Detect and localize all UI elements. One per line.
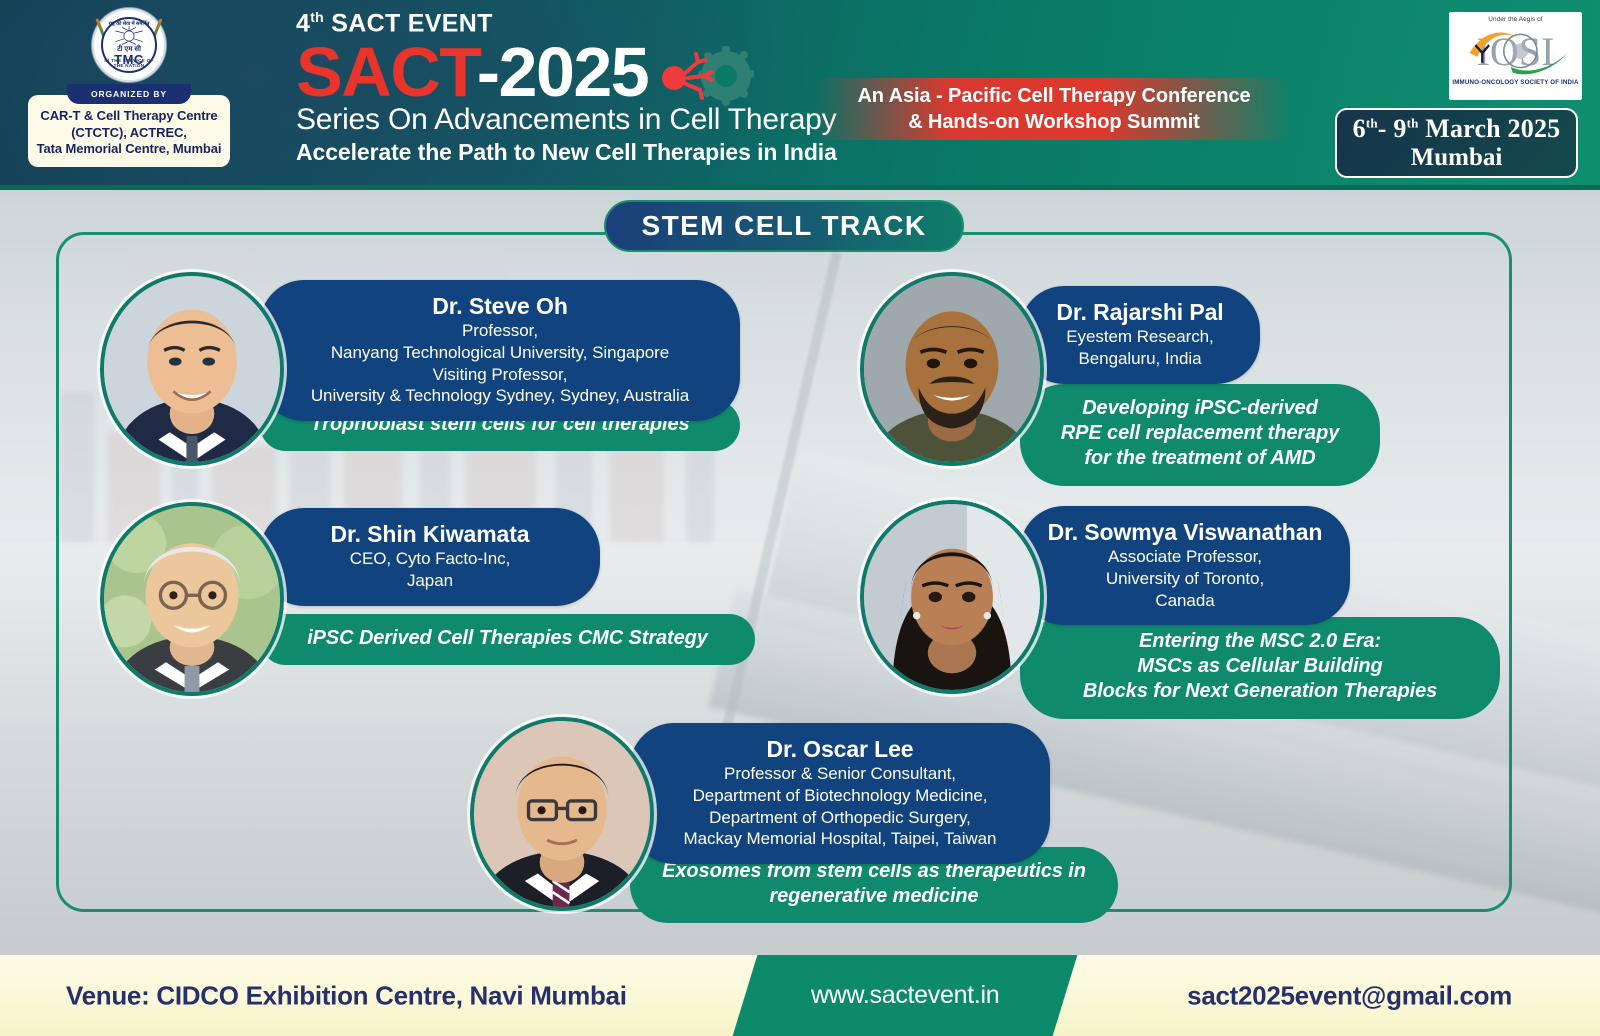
iosi-aegis-text: Under the Aegis of — [1452, 16, 1579, 23]
poster-footer: Venue: CIDCO Exhibition Centre, Navi Mum… — [0, 955, 1600, 1036]
date-month-year: March 2025 — [1425, 114, 1560, 143]
banner-line-2: & Hands-on Workshop Summit — [908, 109, 1199, 135]
speaker-affiliation: Associate Professor, University of Toron… — [1046, 546, 1324, 611]
event-date-line: 6th- 9th March 2025 — [1353, 115, 1561, 143]
brand-title-red: SACT — [296, 33, 477, 111]
date-day-end-ordinal: th — [1407, 116, 1419, 131]
event-city: Mumbai — [1411, 144, 1503, 171]
date-day-end: - 9 — [1378, 114, 1407, 143]
tmc-logo-icon: राष्ट्र की सेवा में समर्पित टी एम सी TMC… — [92, 8, 166, 82]
speaker-topic: iPSC Derived Cell Therapies CMC Strategy — [307, 627, 708, 649]
tmc-arc-top-text: राष्ट्र की सेवा में समर्पित — [103, 21, 155, 27]
speaker-name-box: Dr. Sowmya Viswanathan Associate Profess… — [1020, 506, 1350, 625]
speaker-affiliation: CEO, Cyto Facto-Inc, Japan — [286, 548, 574, 592]
brand-title-white: -2025 — [477, 33, 649, 111]
event-number-ordinal: th — [310, 9, 324, 25]
speaker-card[interactable]: Dr. Sowmya Viswanathan Associate Profess… — [860, 500, 1500, 705]
poster-header: राष्ट्र की सेवा में समर्पित टी एम सी TMC… — [0, 0, 1600, 190]
iosi-name-text: IMMUNO-ONCOLOGY SOCIETY OF INDIA — [1452, 79, 1579, 86]
iosi-logo-icon: Under the Aegis of IOSI IMMUNO-ONCOLOGY … — [1449, 12, 1582, 100]
iosi-artwork: IOSI — [1452, 23, 1579, 79]
speaker-name-box: Dr. Oscar Lee Professor & Senior Consult… — [630, 723, 1050, 864]
track-title-text: STEM CELL TRACK — [642, 210, 927, 242]
speaker-name: Dr. Rajarshi Pal — [1046, 298, 1234, 326]
tmc-arc-bottom-text: IN THE SERVICE OF THE NATION — [103, 58, 155, 68]
track-title-badge: STEM CELL TRACK — [604, 200, 964, 252]
organizer-line-1: CAR-T & Cell Therapy Centre — [34, 108, 224, 125]
contact-email[interactable]: sact2025event@gmail.com — [1187, 980, 1512, 1011]
speaker-name-box: Dr. Shin Kiwamata CEO, Cyto Facto-Inc, J… — [260, 508, 600, 606]
avatar — [100, 502, 284, 696]
speaker-card[interactable]: Dr. Rajarshi Pal Eyestem Research, Benga… — [860, 272, 1380, 487]
speaker-name: Dr. Shin Kiwamata — [286, 520, 574, 548]
poster-body: STEM CELL TRACK — [0, 190, 1600, 955]
speaker-topic-box: iPSC Derived Cell Therapies CMC Strategy — [260, 614, 755, 665]
speaker-topic-box: Entering the MSC 2.0 Era: MSCs as Cellul… — [1020, 617, 1500, 719]
speaker-name: Dr. Oscar Lee — [656, 735, 1024, 763]
avatar — [100, 272, 284, 466]
brand-title: SACT-2025 — [296, 38, 648, 107]
speaker-name: Dr. Sowmya Viswanathan — [1046, 518, 1324, 546]
website-url: www.sactevent.in — [811, 981, 999, 1010]
iosi-flag-swirl-icon — [1452, 23, 1579, 79]
speaker-topic: Entering the MSC 2.0 Era: MSCs as Cellul… — [1083, 630, 1437, 702]
event-date-badge: 6th- 9th March 2025 Mumbai — [1335, 108, 1578, 178]
organized-by-label: ORGANIZED BY — [67, 84, 191, 104]
organizer-line-2: (CTCTC), ACTREC, — [34, 125, 224, 142]
lotus-icon — [112, 26, 146, 46]
tcell-attacking-tumor-icon — [658, 46, 754, 106]
speaker-topic: Developing iPSC-derived RPE cell replace… — [1061, 397, 1339, 469]
speaker-topic-box: Developing iPSC-derived RPE cell replace… — [1020, 384, 1380, 486]
speaker-name-box: Dr. Steve Oh Professor, Nanyang Technolo… — [260, 280, 740, 421]
speaker-topic: Exosomes from stem cells as therapeutics… — [662, 860, 1086, 907]
speaker-affiliation: Professor & Senior Consultant, Departmen… — [656, 763, 1024, 850]
speaker-card[interactable]: Dr. Oscar Lee Professor & Senior Consult… — [470, 717, 1110, 922]
website-badge[interactable]: www.sactevent.in — [733, 955, 1078, 1036]
speaker-name: Dr. Steve Oh — [286, 292, 714, 320]
date-day-start: 6 — [1353, 114, 1366, 143]
organizer-line-3: Tata Memorial Centre, Mumbai — [34, 141, 224, 158]
speaker-affiliation: Professor, Nanyang Technological Univers… — [286, 320, 714, 407]
organizer-box: CAR-T & Cell Therapy Centre (CTCTC), ACT… — [28, 95, 230, 167]
date-day-start-ordinal: th — [1366, 116, 1378, 131]
speaker-name-box: Dr. Rajarshi Pal Eyestem Research, Benga… — [1020, 286, 1260, 384]
banner-line-1: An Asia - Pacific Cell Therapy Conferenc… — [857, 83, 1250, 109]
conference-poster: राष्ट्र की सेवा में समर्पित टी एम सी TMC… — [0, 0, 1600, 1036]
event-tagline: Accelerate the Path to New Cell Therapie… — [296, 139, 1036, 165]
organizer-block: राष्ट्र की सेवा में समर्पित टी एम सी TMC… — [28, 6, 230, 167]
avatar — [860, 500, 1044, 694]
speaker-card[interactable]: Dr. Shin Kiwamata CEO, Cyto Facto-Inc, J… — [100, 502, 755, 702]
avatar — [860, 272, 1044, 466]
speaker-affiliation: Eyestem Research, Bengaluru, India — [1046, 326, 1234, 370]
speaker-card[interactable]: Dr. Steve Oh Professor, Nanyang Technolo… — [100, 272, 740, 487]
conference-type-banner: An Asia - Pacific Cell Therapy Conferenc… — [815, 78, 1293, 140]
venue-text: Venue: CIDCO Exhibition Centre, Navi Mum… — [66, 980, 627, 1011]
avatar — [470, 717, 654, 911]
